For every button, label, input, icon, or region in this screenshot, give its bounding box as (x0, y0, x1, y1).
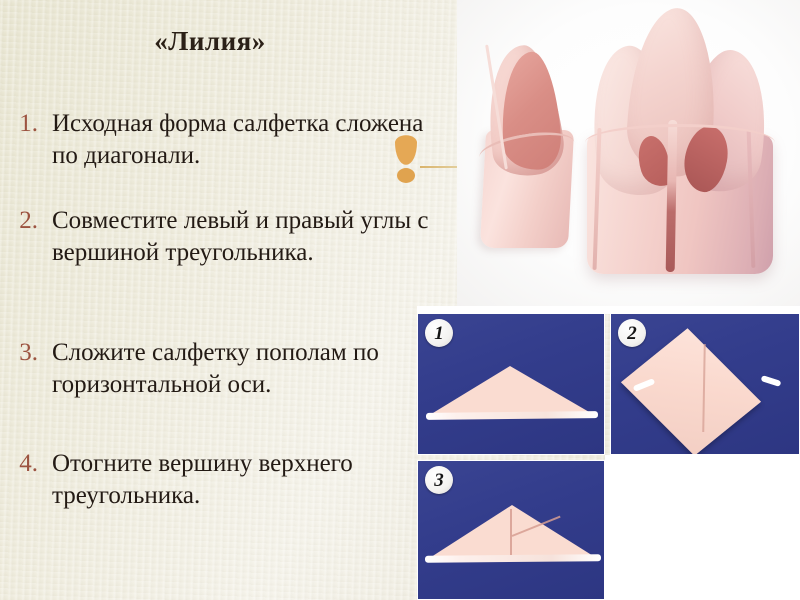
step-number: 3. (8, 337, 52, 369)
gold-exclamation-ornament (392, 136, 420, 188)
step-number: 1. (8, 108, 52, 140)
step-badge: 3 (425, 466, 453, 494)
ornament-drop-shape (395, 135, 417, 164)
ornament-dot-shape (397, 168, 415, 183)
step-badge: 2 (618, 319, 646, 347)
napkin-corner-right (761, 375, 782, 387)
slide-canvas: «Лилия» 1. Исходная форма салфетка сложе… (0, 0, 800, 600)
list-item: 4. Отогните вершину верхнего треугольник… (8, 448, 452, 512)
small-folded-lily-napkin (477, 42, 583, 252)
list-item: 1. Исходная форма салфетка сложена по ди… (8, 108, 452, 172)
large-folded-lily-napkin (577, 8, 787, 280)
napkin-triangle-creased (428, 505, 598, 567)
napkin-triangle-flat (428, 366, 596, 421)
step-photo-panel-3: 3 (417, 460, 605, 600)
step-photo-panel-1: 1 (417, 313, 605, 455)
napkin-diamond-square (633, 336, 783, 436)
list-item: 3. Сложите салфетку пополам по горизонта… (8, 337, 452, 401)
list-item: 2. Совместите левый и правый углы с верш… (8, 205, 452, 269)
step-number: 2. (8, 205, 52, 237)
blank-filler-area (605, 455, 800, 600)
finished-lily-napkins-photo (457, 0, 800, 308)
step-text: Совместите левый и правый углы с вершино… (52, 205, 452, 269)
napkin-bottom-edge (426, 411, 598, 420)
step-number: 4. (8, 448, 52, 480)
page-title: «Лилия» (0, 26, 420, 57)
napkin-rim (585, 124, 775, 161)
step-photo-panel-2: 2 (610, 313, 800, 455)
step-text: Сложите салфетку пополам по горизонтальн… (52, 337, 452, 401)
triangle-shape (428, 366, 596, 416)
napkin-bottom-edge (425, 554, 601, 563)
step-badge: 1 (425, 319, 453, 347)
diamond-shape (621, 328, 761, 455)
step-text: Отогните вершину верхнего треугольника. (52, 448, 452, 512)
triangle-shape (428, 505, 598, 559)
instruction-text-column: «Лилия» 1. Исходная форма салфетка сложе… (0, 0, 470, 600)
